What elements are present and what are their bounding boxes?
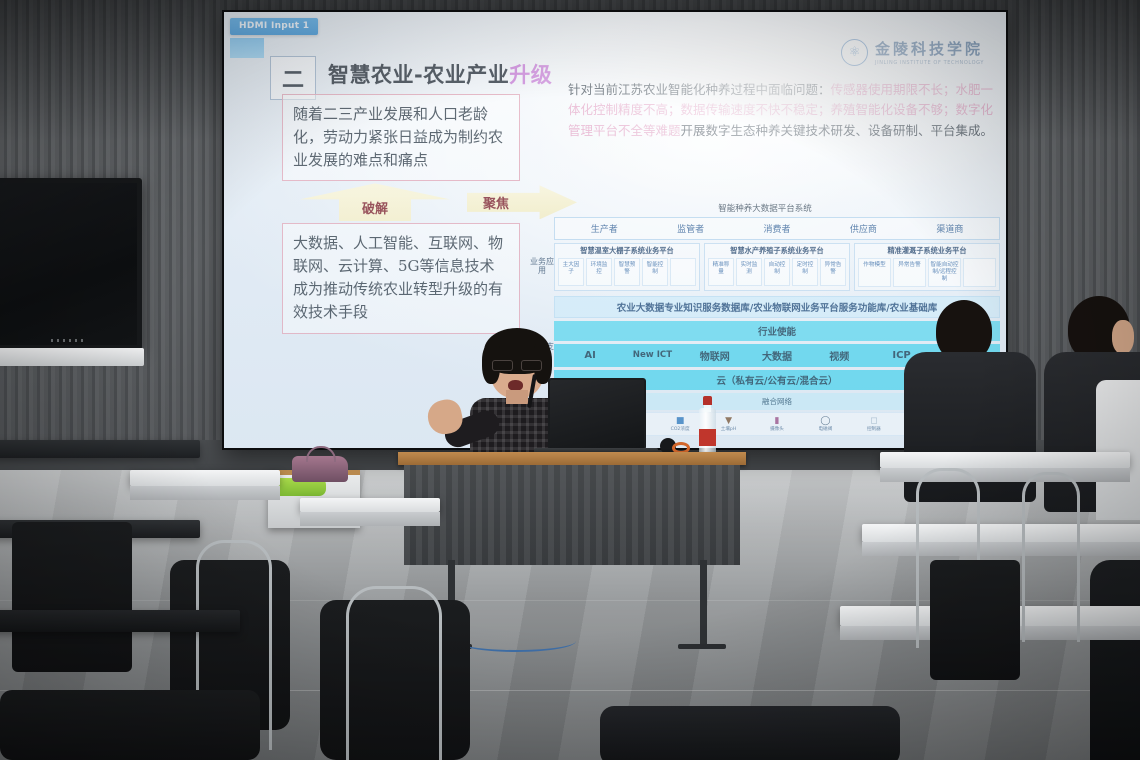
classroom-scene: HDMI Input 1 二 智慧农业-农业产业升级 ⚛ 金陵科技学院 JINL… [0,0,1140,760]
bottle-neck [704,404,711,412]
subsystem-cell: 定时控制 [792,258,818,286]
paragraph-tail: 开展数字生态种养关键技术研发、设备研制、平台集成。 [681,123,994,138]
slide-title: 智慧农业-农业产业升级 [328,59,552,89]
chair-backrest [0,690,260,760]
presenter-glasses [492,360,542,369]
desk-front-panel [862,542,1140,556]
lectern-desktop [398,452,746,465]
subsystem-cell: 智能自动控制/远程控制 [928,258,961,287]
subsystem-irrigation: 精准灌溉子系统业务平台 作物模型 异常告警 智能自动控制/远程控制 [854,243,1000,291]
lectern-body [404,465,740,565]
sensor-label: 摄像头 [753,428,801,433]
slide-title-accent: 升级 [509,63,552,87]
user-role: 消费者 [734,222,820,235]
slide-title-main: 智慧农业-农业产业 [328,63,509,87]
tech-item-newict: New ICT [622,351,682,360]
arrow-row: 破解 聚焦 [282,181,520,223]
business-application-row: 业务应用 智慧温室大棚子系统业务平台 主大因子 环境监控 智慧预警 智能控制 [530,243,1000,291]
slide-left-column: 随着二三产业发展和人口老龄化，劳动力紧张日益成为制约农业发展的难点和痛点 破解 … [282,94,520,334]
business-groups: 智慧温室大棚子系统业务平台 主大因子 环境监控 智慧预警 智能控制 智慧水产养殖… [554,243,1000,291]
lectern-foot [678,644,726,649]
arrow-right-label: 聚焦 [483,193,509,212]
foreground-desk [0,610,240,632]
foreground-desk [0,440,200,458]
subsystem-cell: 异常告警 [820,258,846,286]
subsystem-cells: 主大因子 环境监控 智慧预警 智能控制 [558,258,696,286]
subsystem-cell [670,258,696,286]
subsystem-title: 精准灌溉子系统业务平台 [858,246,996,256]
subsystem-cell: 精准称量 [708,258,734,286]
desk-front-panel [300,512,440,526]
subsystem-cell: 主大因子 [558,258,584,286]
student-desk [300,498,440,512]
hdmi-input-badge: HDMI Input 1 [230,18,318,35]
row-label-business: 业务应用 [530,243,554,291]
chair-backrest [930,560,1020,680]
student-foreground [1090,560,1140,760]
sensor-item: ◻ 控制器 [850,416,898,433]
student-desk [130,470,280,486]
bottle-cap [703,396,712,405]
subsystem-aquaculture: 智慧水产养殖子系统业务平台 精准称量 实时监测 自动控制 定时控制 异常告警 [704,243,850,291]
user-role: 供应商 [820,222,906,235]
subsystem-cell: 智能控制 [642,258,668,286]
controller-icon: ◻ [850,416,898,427]
subsystem-cell: 智慧预警 [614,258,640,286]
institution-name-cn: 金陵科技学院 [875,38,984,59]
desk-front-panel [880,468,1130,482]
subsystem-title: 智慧水产养殖子系统业务平台 [708,246,846,256]
sensor-item: ■ CO2浓度 [656,416,704,433]
water-bottle [699,396,716,456]
subsystem-cell [963,258,996,287]
hdmi-badge-tail [230,38,264,58]
chair-frame [346,586,442,760]
subsystem-cells: 作物模型 异常告警 智能自动控制/远程控制 [858,258,996,287]
subsystem-greenhouse: 智慧温室大棚子系统业务平台 主大因子 环境监控 智慧预警 智能控制 [554,243,700,291]
sensor-label: 电磁阀 [801,428,849,433]
slide-paragraph: 针对当前江苏农业智能化种养过程中面临问题：传感器使用期限不长；水肥一体化控制精度… [568,80,998,141]
presenter-neck [506,390,528,404]
student-desk [862,524,1140,542]
lectern-leg [700,560,707,646]
valve-icon: ◯ [801,416,849,427]
laptop-screen [548,378,646,450]
camera-icon: ▮ [753,416,801,427]
institution-logo: ⚛ 金陵科技学院 JINLING INSTITUTE OF TECHNOLOGY [841,38,984,66]
power-cable [456,630,576,652]
subsystem-cell: 实时监测 [736,258,762,286]
chair-backrest [600,706,900,760]
bottle-label [699,429,716,446]
wall-display-controls [51,339,85,342]
tech-item-video: 视频 [809,348,869,363]
sensor-label: CO2浓度 [656,428,704,433]
user-role: 渠道商 [907,222,993,235]
institution-name-en: JINLING INSTITUTE OF TECHNOLOGY [875,60,984,66]
wall-display [0,178,142,350]
paragraph-lead: 针对当前江苏农业智能化种养过程中面临问题： [568,82,831,97]
student-body [1090,560,1140,760]
subsystem-cell: 异常告警 [893,258,926,287]
student-face [1112,320,1134,354]
chair-frame [1022,472,1080,642]
wall-display-screen [0,183,137,345]
arrow-up-label: 破解 [362,198,388,221]
user-role: 监管者 [647,222,733,235]
tech-item-iot: 物联网 [685,348,745,363]
sensor-item: ◯ 电磁阀 [801,416,849,433]
student-desk [880,452,1130,468]
chair-backrest [12,522,132,672]
desk-front-panel [130,486,280,500]
co2-sensor-icon: ■ [656,416,704,427]
issue-text-box: 随着二三产业发展和人口老龄化，劳动力紧张日益成为制约农业发展的难点和痛点 [282,94,520,181]
tech-item-bigdata: 大数据 [747,348,807,363]
lectern-panel [404,465,740,565]
school-crest-icon: ⚛ [841,39,868,66]
diagram-title: 智能种养大数据平台系统 [530,202,1000,214]
subsystem-cell: 作物模型 [858,258,891,287]
arrow-up-solve: 破解 [300,183,450,221]
subsystem-cells: 精准称量 实时监测 自动控制 定时控制 异常告警 [708,258,846,286]
solution-text-box: 大数据、人工智能、互联网、物联网、云计算、5G等信息技术成为推动传统农业转型升级… [282,223,520,333]
sensor-item: ▮ 摄像头 [753,416,801,433]
user-role: 生产者 [561,222,647,235]
subsystem-title: 智慧温室大棚子系统业务平台 [558,246,696,256]
subsystem-cell: 环境监控 [586,258,612,286]
student-white-shirt [1096,380,1140,520]
wall-display-shelf [0,348,144,366]
subsystem-cell: 自动控制 [764,258,790,286]
diagram-user-row: 生产者 监管者 消费者 供应商 渠道商 [554,217,1000,240]
sensor-label: 控制器 [850,428,898,433]
